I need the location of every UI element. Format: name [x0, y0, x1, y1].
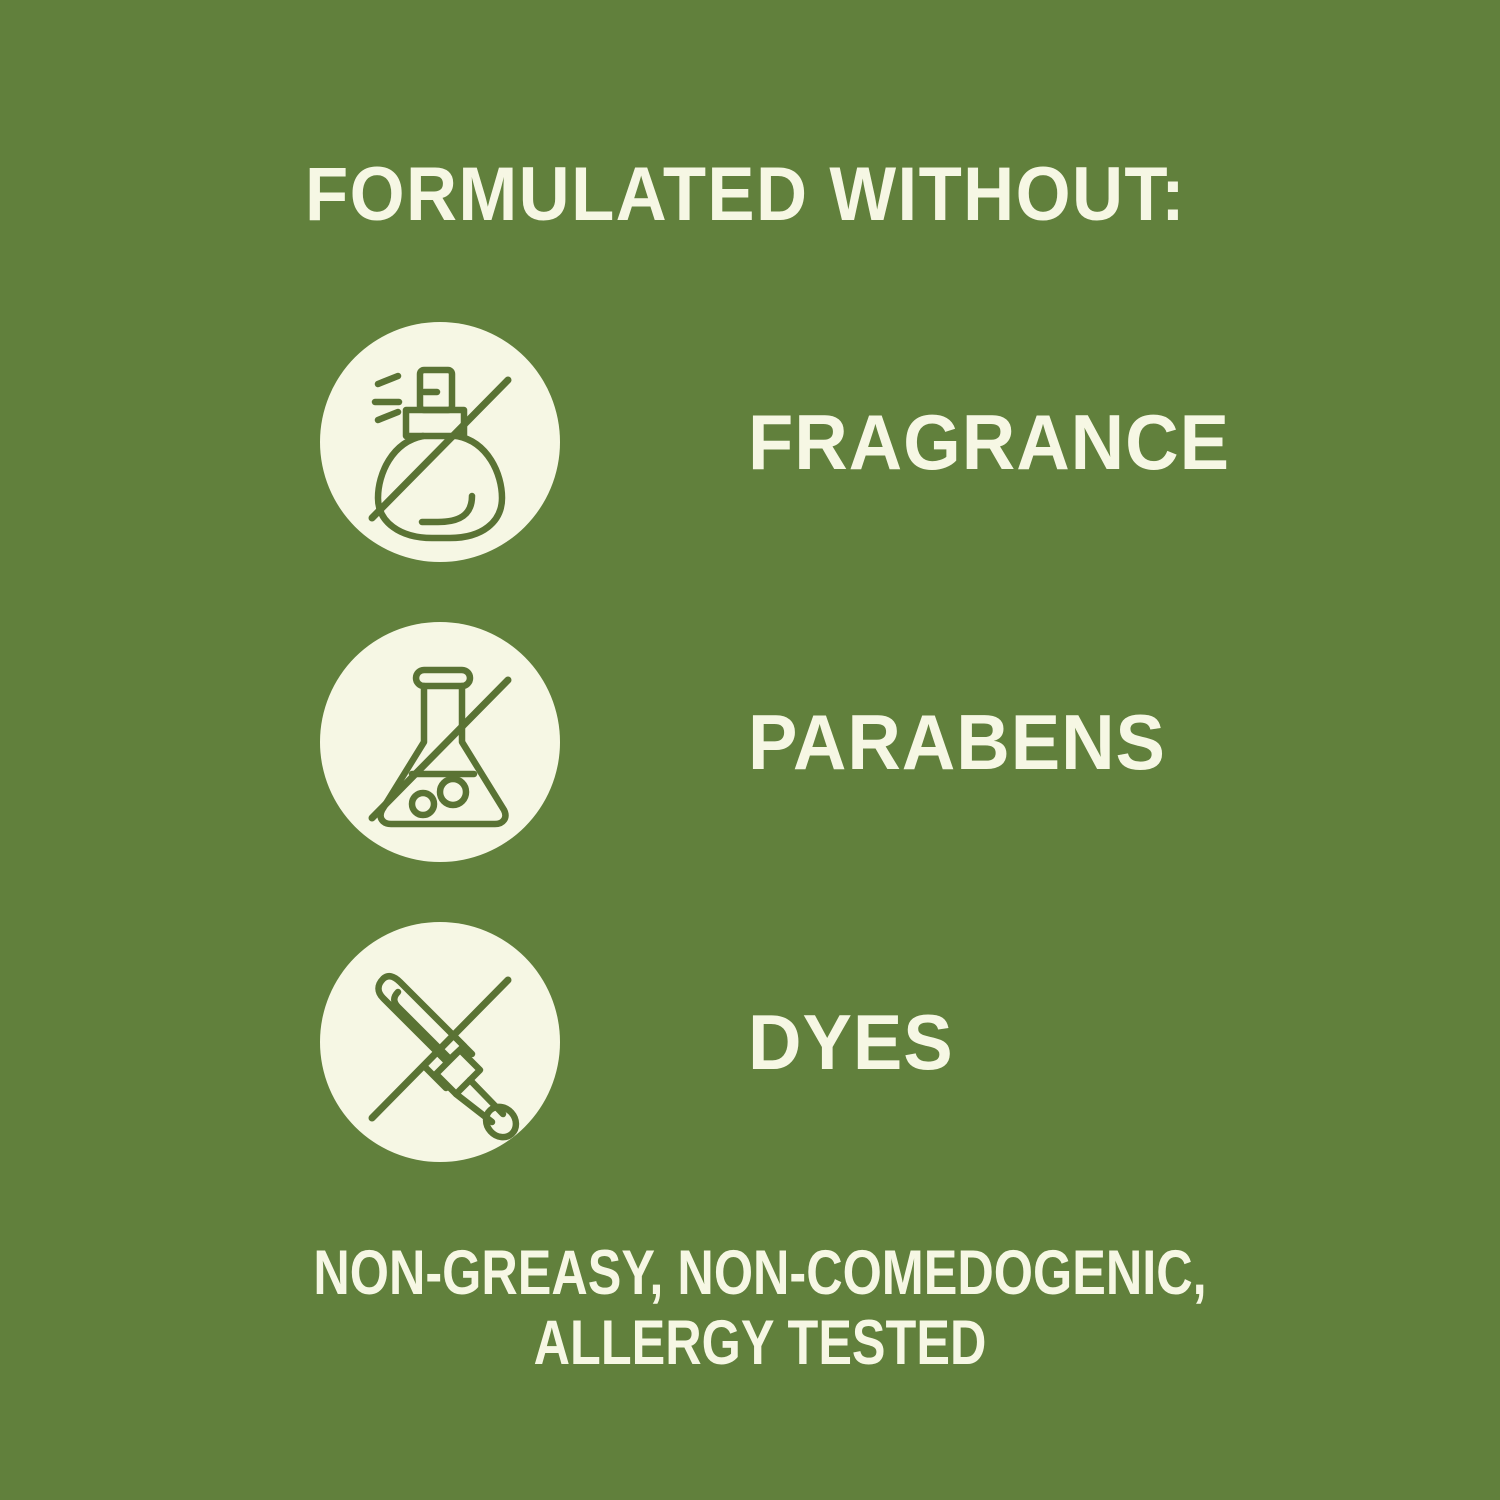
claim-row-fragrance: FRAGRANCE [320, 322, 1320, 562]
no-fragrance-badge [320, 322, 560, 562]
page-title: FORMULATED WITHOUT: [305, 152, 1142, 238]
claim-label-parabens: PARABENS [748, 703, 1166, 781]
claim-label-dyes: DYES [748, 1003, 954, 1081]
no-parabens-badge [320, 622, 560, 862]
claim-label-fragrance: FRAGRANCE [748, 403, 1230, 481]
footer-line-1: NON-GREASY, NON-COMEDOGENIC, [152, 1238, 1368, 1308]
no-dyes-dropper-icon [320, 922, 560, 1162]
no-fragrance-spray-bottle-icon [320, 322, 560, 562]
claim-row-parabens: PARABENS [320, 622, 1320, 862]
footer-claims: NON-GREASY, NON-COMEDOGENIC, ALLERGY TES… [0, 1238, 1500, 1378]
no-dyes-badge [320, 922, 560, 1162]
formulated-without-poster: FORMULATED WITHOUT: [0, 0, 1500, 1500]
claim-row-dyes: DYES [320, 922, 1320, 1162]
footer-line-2: ALLERGY TESTED [152, 1308, 1368, 1378]
no-parabens-flask-icon [320, 622, 560, 862]
